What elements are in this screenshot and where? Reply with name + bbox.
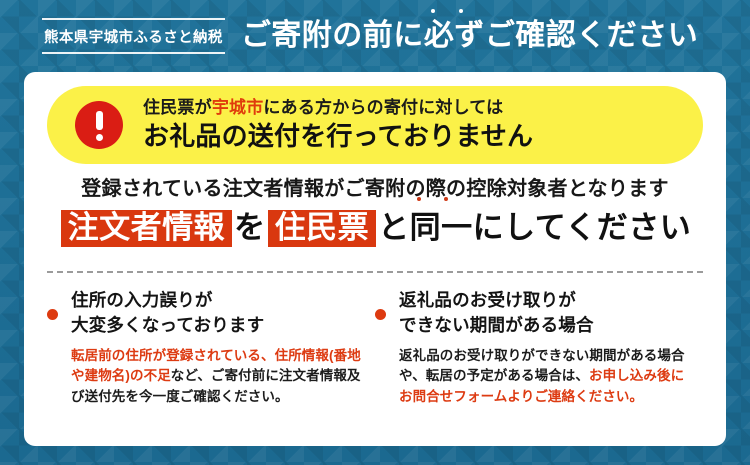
- notice-heading: 住所の入力誤りが 大変多くなっております: [71, 288, 369, 339]
- dashed-divider: [47, 271, 703, 273]
- notice-column-address: 住所の入力誤りが 大変多くなっております 転居前の住所が登録されている、住所情報…: [47, 288, 375, 407]
- chip-residence-certificate: 住民票: [268, 210, 377, 247]
- notice-column-body: 返礼品のお受け取りが できない期間がある場合 返礼品のお受け取りができない期間が…: [399, 288, 697, 407]
- notice-heading-line-2: 大変多くなっております: [71, 313, 369, 338]
- statement-connector: を: [234, 210, 266, 245]
- exclamation-icon: [75, 101, 123, 149]
- notice-heading-line-2: できない期間がある場合: [399, 313, 697, 338]
- notice-heading-line-1: 返礼品のお受け取りが: [399, 288, 697, 313]
- banner-header: 熊本県宇城市ふるさと納税 ご寄附の前に必ずご確認ください: [0, 0, 750, 72]
- alert-line-1-after: にある方からの寄付に対しては: [263, 98, 503, 117]
- alert-text-block: 住民票が宇城市にある方からの寄付に対しては お礼品の送付を行っておりません: [143, 98, 533, 151]
- statement-line-2: 注文者情報を住民票と同一にしてください: [24, 209, 726, 247]
- chip-orderer-info: 注文者情報: [61, 210, 233, 247]
- notice-note: 返礼品のお受け取りができない期間がある場合や、転居の予定がある場合は、お申し込み…: [399, 346, 697, 408]
- bullet-icon: [47, 309, 58, 320]
- page-title: ご寄附の前に必ずご確認ください: [241, 21, 699, 51]
- alert-line-1-before: 住民票が: [143, 98, 212, 117]
- page-title-emphasis: 必ず: [424, 21, 485, 51]
- bullet-icon: [375, 309, 386, 320]
- notice-heading: 返礼品のお受け取りが できない期間がある場合: [399, 288, 697, 339]
- statement-block: 登録されている注文者情報がご寄附の際の控除対象者となります 注文者情報を住民票と…: [24, 172, 726, 247]
- notice-columns: 住所の入力誤りが 大変多くなっております 転居前の住所が登録されている、住所情報…: [47, 288, 703, 407]
- page-title-before: ご寄附の前に: [241, 19, 424, 52]
- statement-tail-before: と: [378, 210, 410, 245]
- statement-tail-after: にしてください: [473, 210, 692, 245]
- page-title-after: ご確認ください: [485, 19, 699, 52]
- notice-heading-line-1: 住所の入力誤りが: [71, 288, 369, 313]
- header-rule-bottom: [42, 52, 225, 54]
- header-kicker-block: 熊本県宇城市ふるさと納税: [42, 18, 225, 54]
- header-rule-top: [42, 18, 225, 20]
- notice-note: 転居前の住所が登録されている、住所情報(番地や建物名)の不足など、ご寄付前に注文…: [71, 346, 369, 408]
- notice-column-body: 住所の入力誤りが 大変多くなっております 転居前の住所が登録されている、住所情報…: [71, 288, 369, 407]
- alert-box: 住民票が宇城市にある方からの寄付に対しては お礼品の送付を行っておりません: [47, 86, 703, 164]
- statement-tail-emphasis: 同一: [410, 209, 473, 246]
- notice-banner: 熊本県宇城市ふるさと納税 ご寄附の前に必ずご確認ください 住民票が宇城市にある方…: [0, 0, 750, 465]
- alert-line-2: お礼品の送付を行っておりません: [143, 122, 533, 152]
- alert-city-highlight: 宇城市: [212, 98, 264, 117]
- notice-column-delivery: 返礼品のお受け取りが できない期間がある場合 返礼品のお受け取りができない期間が…: [375, 288, 703, 407]
- header-kicker-text: 熊本県宇城市ふるさと納税: [42, 20, 225, 52]
- alert-line-1: 住民票が宇城市にある方からの寄付に対しては: [143, 98, 533, 118]
- notice-card: 住民票が宇城市にある方からの寄付に対しては お礼品の送付を行っておりません 登録…: [24, 72, 726, 446]
- statement-line-1: 登録されている注文者情報がご寄附の際の控除対象者となります: [24, 172, 726, 201]
